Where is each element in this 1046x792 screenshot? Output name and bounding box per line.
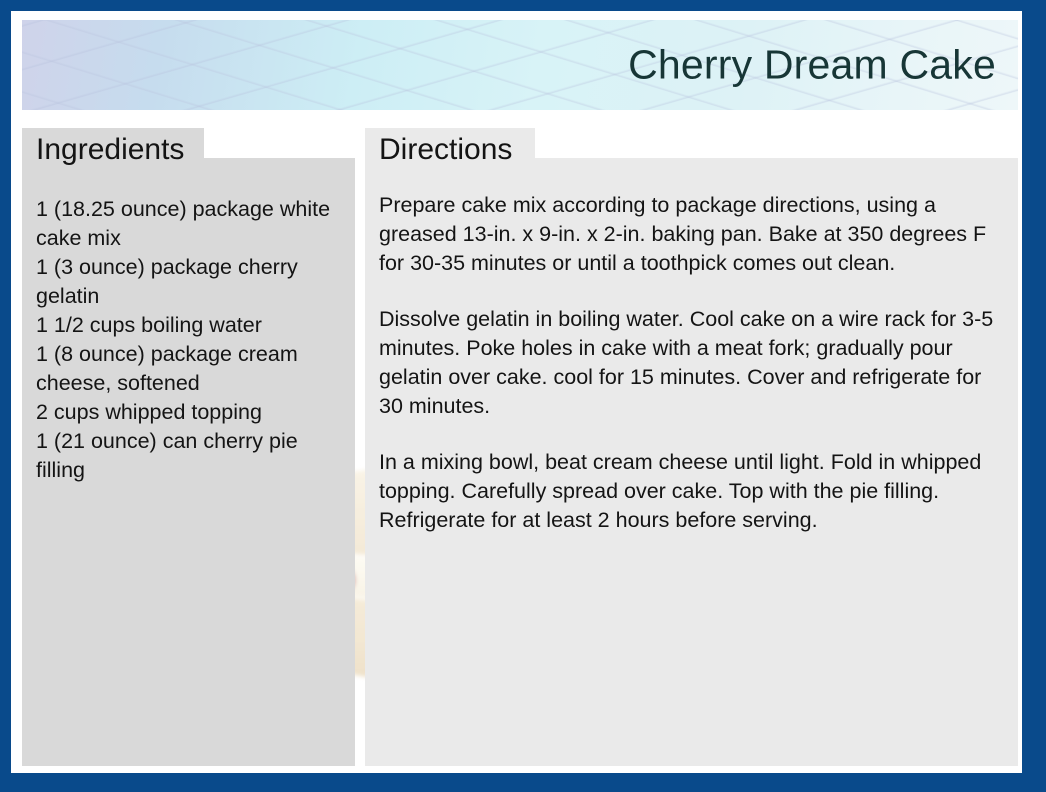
ingredients-list: 1 (18.25 ounce) package white cake mix 1… — [22, 159, 355, 485]
frame-right-edge — [1022, 0, 1046, 792]
list-item: 1 (18.25 ounce) package white cake mix — [36, 195, 349, 253]
recipe-card: Cherry Dream Cake — [0, 0, 1046, 792]
list-item: 1 (3 ounce) package cherry gelatin — [36, 253, 349, 311]
ingredients-heading: Ingredients — [36, 130, 184, 170]
frame-bottom-edge — [0, 773, 1046, 792]
list-item: 1 1/2 cups boiling water — [36, 311, 349, 340]
directions-steps: Prepare cake mix according to package di… — [365, 159, 1018, 535]
page-title: Cherry Dream Cake — [628, 45, 996, 86]
directions-panel: Directions Prepare cake mix according to… — [365, 128, 1018, 766]
header-banner: Cherry Dream Cake — [22, 20, 1018, 110]
direction-step: In a mixing bowl, beat cream cheese unti… — [379, 448, 996, 535]
list-item: 1 (21 ounce) can cherry pie filling — [36, 427, 349, 485]
ingredients-content: 1 (18.25 ounce) package white cake mix 1… — [22, 159, 355, 766]
list-item: 1 (8 ounce) package cream cheese, soften… — [36, 340, 349, 398]
directions-heading: Directions — [379, 130, 512, 170]
direction-step: Prepare cake mix according to package di… — [379, 191, 996, 278]
directions-content: Prepare cake mix according to package di… — [365, 159, 1018, 766]
direction-step: Dissolve gelatin in boiling water. Cool … — [379, 305, 996, 421]
list-item: 2 cups whipped topping — [36, 398, 349, 427]
frame-left-edge — [0, 0, 11, 792]
frame-top-edge — [0, 0, 1046, 11]
ingredients-panel: Ingredients 1 (18.25 ounce) package whit… — [22, 128, 355, 766]
